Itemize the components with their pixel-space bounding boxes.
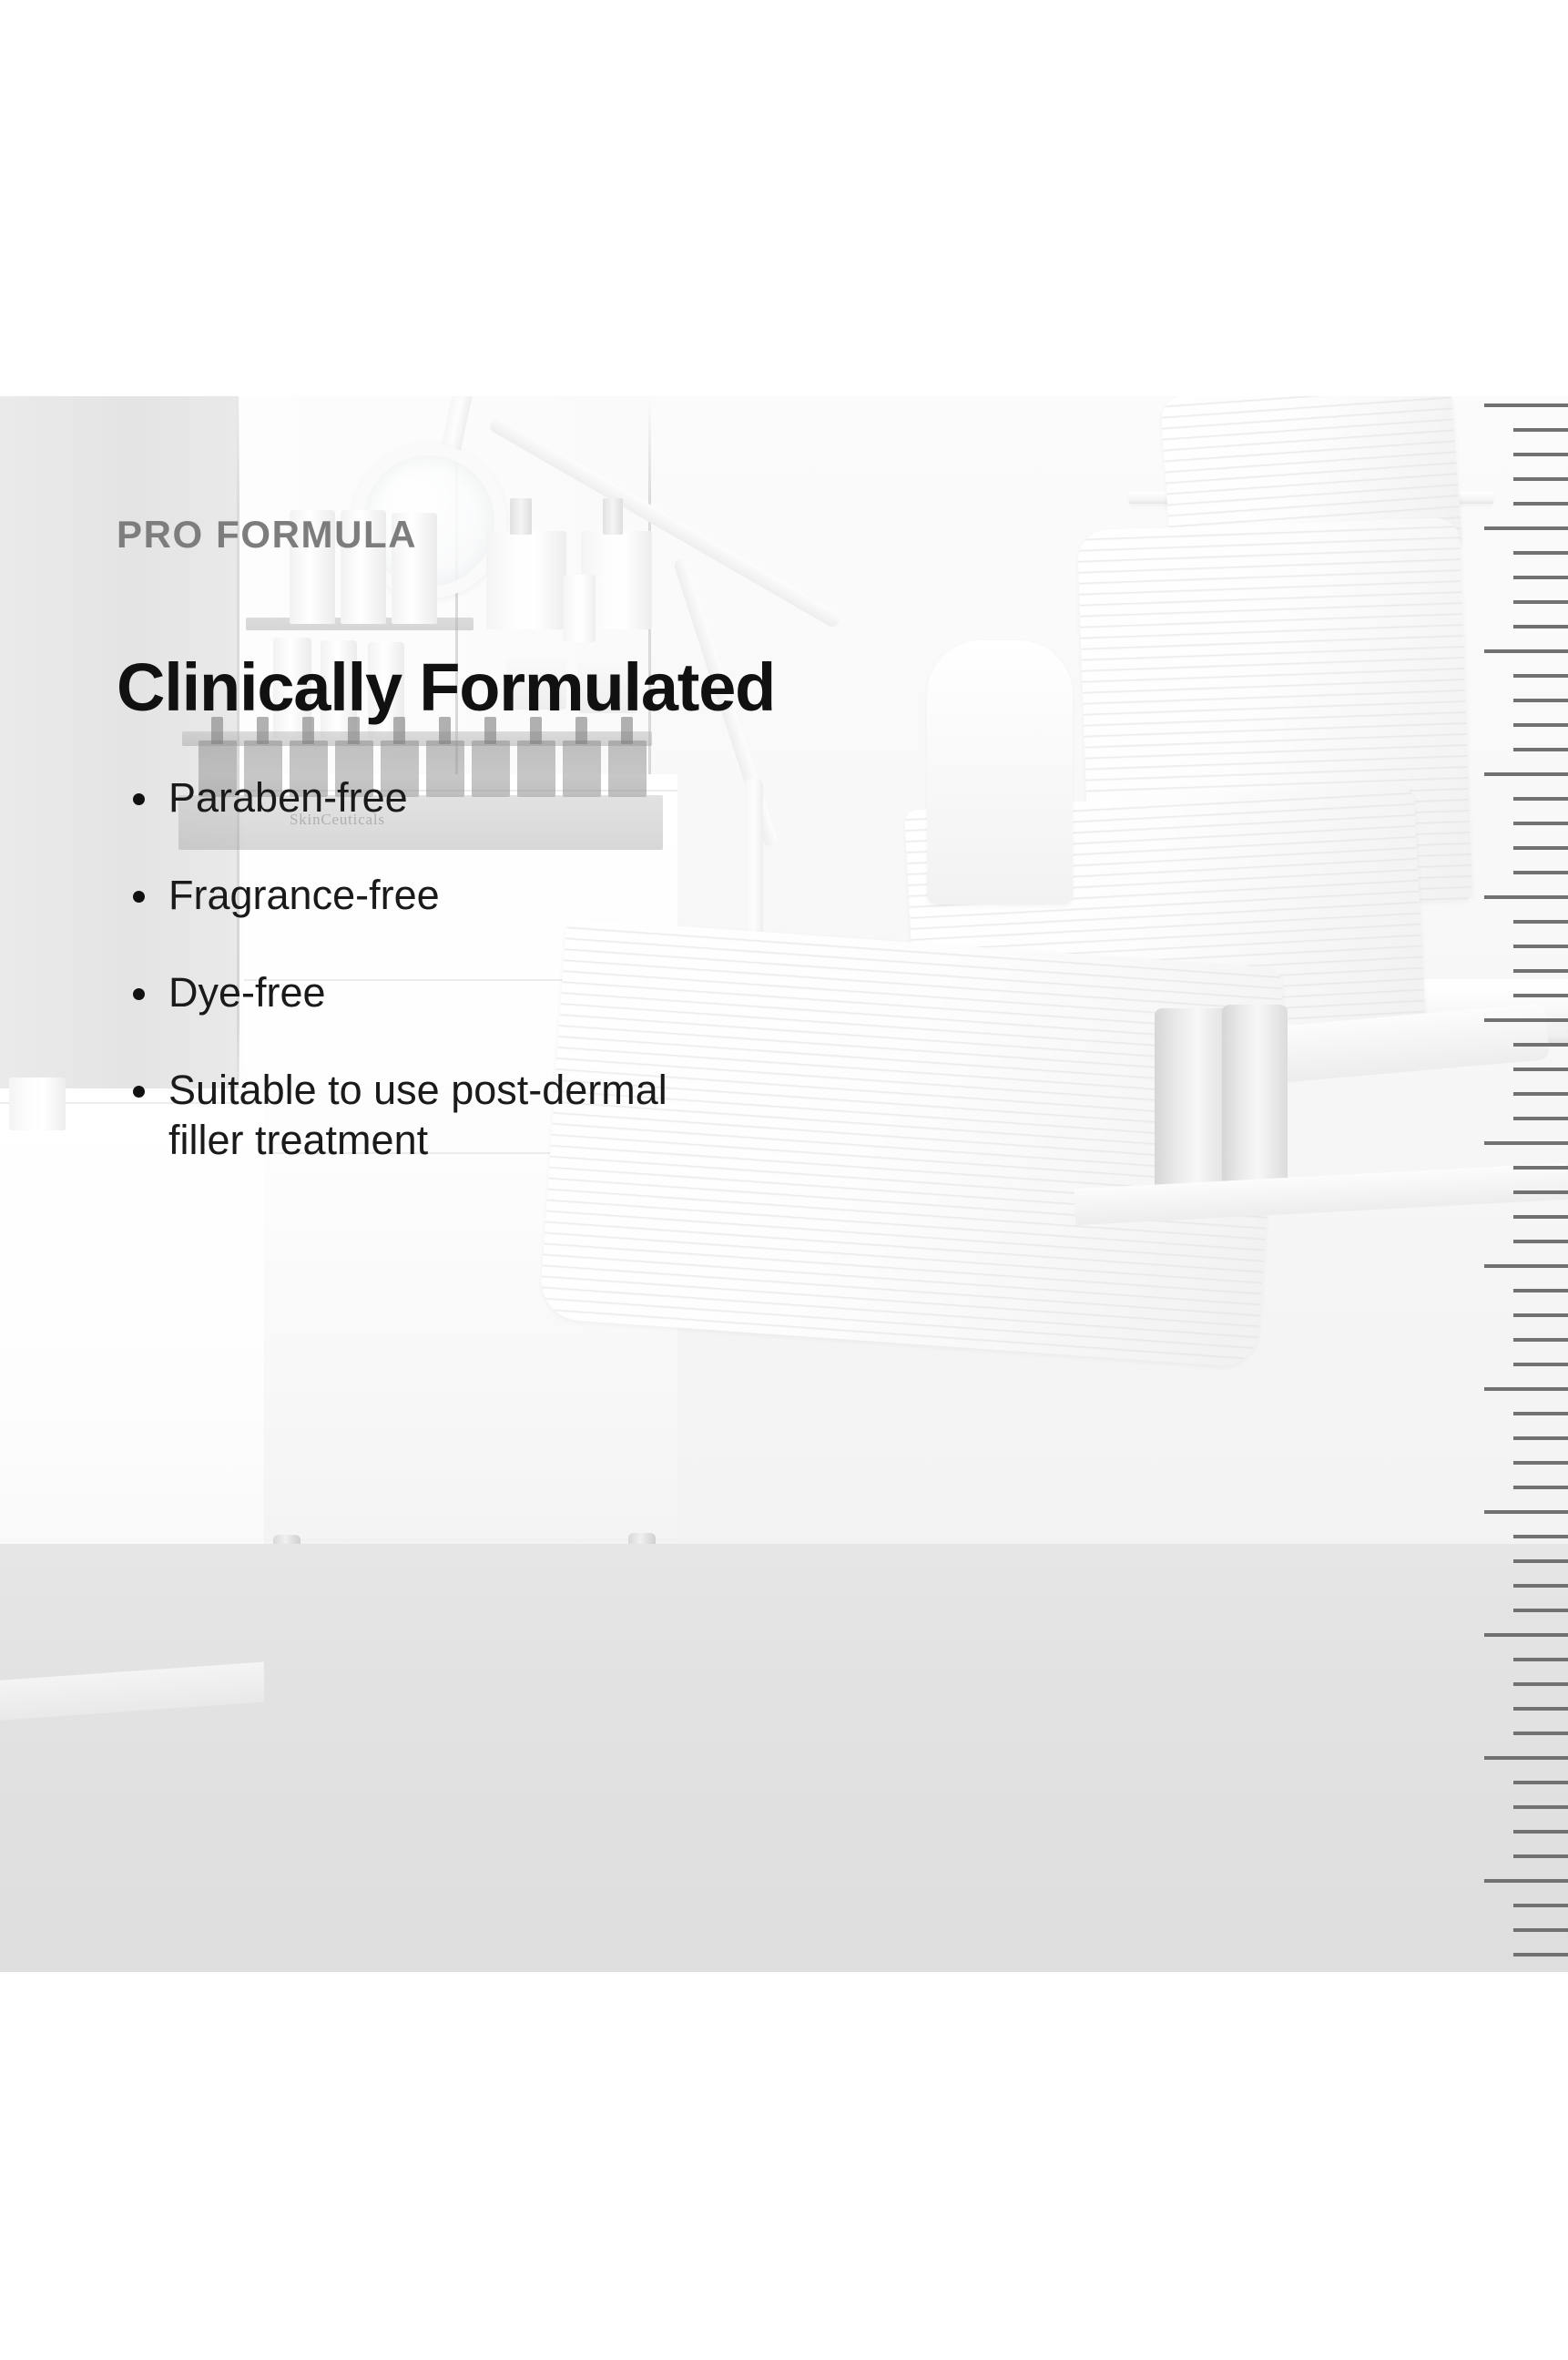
ruler-tick-minor xyxy=(1513,1682,1568,1686)
ruler-tick-major xyxy=(1484,772,1568,776)
ruler-tick-major xyxy=(1484,1387,1568,1391)
tube-2 xyxy=(341,510,386,624)
ruler-tick-minor xyxy=(1513,1166,1568,1170)
ruler-tick-minor xyxy=(1513,1092,1568,1096)
serum-cap-3 xyxy=(302,717,314,744)
ruler-tick-minor xyxy=(1513,1953,1568,1956)
serum-cap-9 xyxy=(575,717,587,744)
ruler-tick-minor xyxy=(1513,1338,1568,1342)
tube-1 xyxy=(290,510,335,624)
ruler-tick-minor xyxy=(1513,1854,1568,1858)
brand-logo-text: SkinCeuticals xyxy=(290,811,385,829)
ruler-tick-minor xyxy=(1513,1240,1568,1243)
room-floor xyxy=(0,1544,1568,1972)
jar-1 xyxy=(506,659,566,710)
jar-2 xyxy=(577,660,637,713)
ruler-tick-minor xyxy=(1513,1190,1568,1194)
ruler-tick-major xyxy=(1484,649,1568,653)
ruler-tick-minor xyxy=(1513,502,1568,506)
ruler-tick-minor xyxy=(1513,1412,1568,1415)
ruler-tick-minor xyxy=(1513,1535,1568,1538)
ruler-tick-minor xyxy=(1513,994,1568,997)
serum-8 xyxy=(517,741,555,797)
ruler-tick-minor xyxy=(1513,551,1568,555)
ruler-tick-minor xyxy=(1513,1043,1568,1047)
ruler-tick-minor xyxy=(1513,699,1568,702)
ruler-tick-major xyxy=(1484,1879,1568,1883)
ruler-tick-minor xyxy=(1513,1117,1568,1120)
ruler-tick-minor xyxy=(1513,723,1568,727)
ruler-tick-minor xyxy=(1513,1436,1568,1440)
serum-cap-6 xyxy=(439,717,451,744)
serum-1 xyxy=(199,741,237,797)
pump-bottle-1 xyxy=(486,531,566,629)
tube-3 xyxy=(392,513,437,624)
serum-cap-5 xyxy=(393,717,405,744)
serum-4 xyxy=(335,741,373,797)
serum-cap-10 xyxy=(621,717,633,744)
ruler-tick-major xyxy=(1484,526,1568,530)
ruler-tick-minor xyxy=(1513,1068,1568,1071)
wall-seam-1 xyxy=(237,396,239,1125)
ruler-tick-minor xyxy=(1513,1928,1568,1932)
ruler-tick-minor xyxy=(1513,1732,1568,1735)
ruler-tick-minor xyxy=(1513,1805,1568,1809)
ruler-tick-minor xyxy=(1513,1313,1568,1317)
ruler-tick-minor xyxy=(1513,1658,1568,1661)
ruler-tick-major xyxy=(1484,1756,1568,1760)
measurement-ruler xyxy=(1457,396,1568,1972)
serum-cap-8 xyxy=(530,717,542,744)
ruler-tick-minor xyxy=(1513,1215,1568,1219)
ruler-tick-major xyxy=(1484,1141,1568,1145)
ruler-tick-minor xyxy=(1513,1781,1568,1784)
ruler-tick-minor xyxy=(1513,797,1568,801)
ruler-tick-minor xyxy=(1513,945,1568,948)
ruler-tick-major xyxy=(1484,1633,1568,1637)
chair-armrest xyxy=(927,640,1073,904)
ruler-tick-minor xyxy=(1513,625,1568,628)
ruler-tick-minor xyxy=(1513,1461,1568,1465)
serum-2 xyxy=(244,741,282,797)
ruler-tick-major xyxy=(1484,895,1568,899)
serum-10 xyxy=(608,741,647,797)
ruler-tick-minor xyxy=(1513,453,1568,456)
serum-box-front xyxy=(563,575,596,642)
serum-7 xyxy=(472,741,510,797)
serum-9 xyxy=(563,741,601,797)
serum-6 xyxy=(426,741,464,797)
ruler-tick-minor xyxy=(1513,871,1568,874)
serum-cap-4 xyxy=(348,717,360,744)
ruler-tick-minor xyxy=(1513,576,1568,579)
ruler-tick-major xyxy=(1484,1264,1568,1268)
ruler-tick-minor xyxy=(1513,428,1568,432)
serum-cap-2 xyxy=(257,717,269,744)
ruler-tick-minor xyxy=(1513,600,1568,604)
ruler-tick-major xyxy=(1484,1510,1568,1514)
ruler-tick-minor xyxy=(1513,1289,1568,1292)
ruler-tick-minor xyxy=(1513,920,1568,924)
ruler-tick-major xyxy=(1484,404,1568,407)
ruler-tick-minor xyxy=(1513,1707,1568,1711)
ruler-tick-minor xyxy=(1513,674,1568,678)
pump-head-2 xyxy=(603,498,623,535)
pump-head-1 xyxy=(510,498,532,535)
ruler-tick-minor xyxy=(1513,969,1568,973)
ruler-tick-minor xyxy=(1513,1584,1568,1588)
ruler-tick-minor xyxy=(1513,1486,1568,1489)
ruler-tick-minor xyxy=(1513,846,1568,850)
side-cabinet-box xyxy=(9,1078,66,1130)
serum-tray-base xyxy=(178,795,663,850)
serum-cap-7 xyxy=(484,717,496,744)
ruler-tick-minor xyxy=(1513,1559,1568,1563)
ruler-tick-major xyxy=(1484,1018,1568,1022)
treatment-room-photo: SkinCeuticals xyxy=(0,396,1568,1972)
ruler-tick-minor xyxy=(1513,1609,1568,1612)
serum-3 xyxy=(290,741,328,797)
promo-image-page: SkinCeuticals PRO FORMULA Clinically For… xyxy=(0,0,1568,2360)
serum-5 xyxy=(381,741,419,797)
ruler-tick-minor xyxy=(1513,822,1568,825)
ruler-tick-minor xyxy=(1513,1904,1568,1907)
ruler-tick-minor xyxy=(1513,748,1568,751)
ruler-tick-minor xyxy=(1513,477,1568,481)
ruler-tick-minor xyxy=(1513,1363,1568,1366)
serum-cap-1 xyxy=(211,717,223,744)
chair-cylinder-right xyxy=(1222,1005,1288,1187)
ruler-tick-minor xyxy=(1513,1830,1568,1834)
